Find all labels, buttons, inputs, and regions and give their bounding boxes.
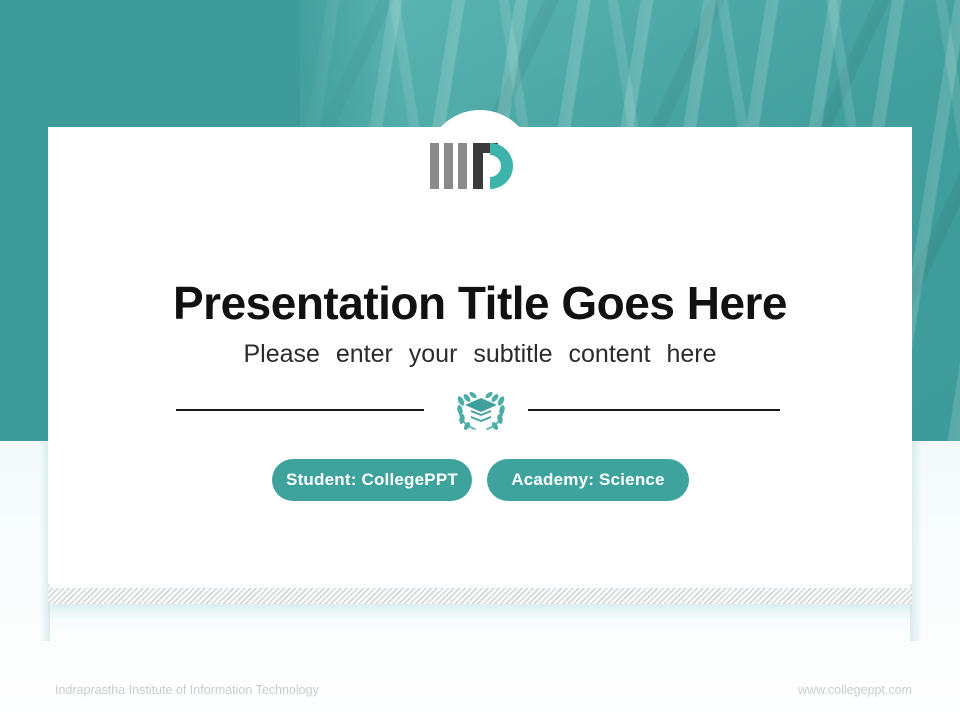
student-pill[interactable]: Student: CollegePPT: [272, 459, 472, 501]
hatched-band-shadow: [48, 604, 912, 630]
page-title: Presentation Title Goes Here: [0, 276, 960, 330]
footer-website-url: www.collegeppt.com: [798, 683, 912, 697]
footer-institution-name: Indraprastha Institute of Information Te…: [55, 683, 319, 697]
academy-pill[interactable]: Academy: Science: [487, 459, 689, 501]
iiit-delhi-logo: [430, 143, 530, 189]
divider-line-right: [528, 409, 780, 411]
page-subtitle: Please enter your subtitle content here: [0, 340, 960, 369]
hatched-divider-band: [48, 588, 912, 604]
graduation-cap-laurel-icon: [453, 388, 509, 434]
divider-line-left: [176, 409, 424, 411]
presentation-slide: Presentation Title Goes Here Please ente…: [0, 0, 960, 720]
